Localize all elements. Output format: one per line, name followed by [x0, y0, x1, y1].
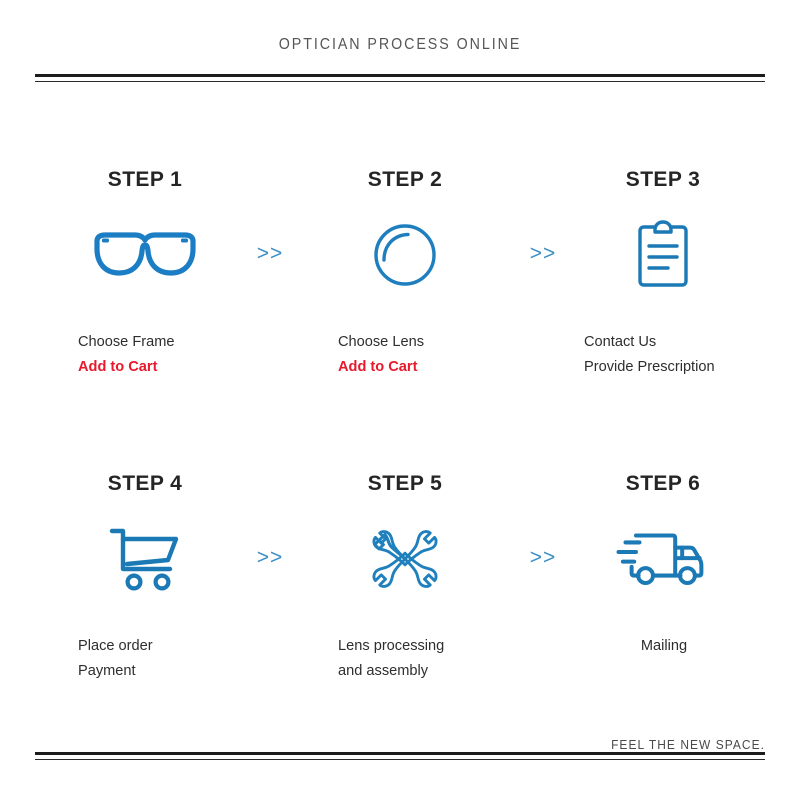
step-caption-3: Contact Us Provide Prescription [584, 330, 784, 380]
divider-thin-line [35, 759, 765, 760]
clipboard-prescription-icon [548, 210, 778, 300]
step-card-6[interactable]: STEP 6 [548, 462, 778, 692]
caption-line: and assembly [338, 659, 528, 684]
divider-thin-line [35, 81, 765, 82]
header-divider [35, 74, 765, 82]
caption-line: Lens processing [338, 634, 528, 659]
step-card-4[interactable]: STEP 4 Place order Payment [30, 462, 260, 692]
step-caption-2: Choose Lens Add to Cart [338, 330, 528, 380]
footer-tagline: FEEL THE NEW SPACE. [38, 738, 765, 752]
step-title-6: STEP 6 [548, 472, 778, 496]
step-title-1: STEP 1 [30, 168, 260, 192]
eyeglasses-icon [30, 210, 260, 300]
step-card-3[interactable]: STEP 3 Contact Us Provide Prescription [548, 158, 778, 388]
step-caption-1: Choose Frame Add to Cart [78, 330, 268, 380]
page-header: OPTICIAN PROCESS ONLINE [0, 0, 800, 100]
lens-circle-icon [290, 210, 520, 300]
step-card-1[interactable]: STEP 1 Choose Frame Add to Cart [30, 158, 260, 388]
page-title: OPTICIAN PROCESS ONLINE [32, 36, 768, 54]
crossed-wrenches-icon [290, 514, 520, 604]
caption-line: Choose Lens [338, 330, 528, 355]
caption-line: Contact Us [584, 330, 784, 355]
shopping-cart-icon [30, 514, 260, 604]
step-card-5[interactable]: STEP 5 [290, 462, 520, 692]
step-caption-5: Lens processing and assembly [338, 634, 528, 684]
steps-row-top: STEP 1 Choose Frame Add to Cart >> STEP … [0, 158, 800, 388]
step-caption-4: Place order Payment [78, 634, 268, 684]
caption-line: Mailing [584, 634, 744, 659]
caption-line: Provide Prescription [584, 355, 784, 380]
delivery-truck-icon [548, 514, 778, 604]
caption-line: Choose Frame [78, 330, 268, 355]
step-title-5: STEP 5 [290, 472, 520, 496]
caption-line: Place order [78, 634, 268, 659]
step-arrow-separator-3: >> [245, 546, 295, 570]
caption-line-accent[interactable]: Add to Cart [78, 355, 268, 380]
steps-row-bottom: STEP 4 Place order Payment >> STEP 5 [0, 462, 800, 692]
step-card-2[interactable]: STEP 2 Choose Lens Add to Cart [290, 158, 520, 388]
step-caption-6: Mailing [584, 634, 784, 659]
step-title-4: STEP 4 [30, 472, 260, 496]
step-title-3: STEP 3 [548, 168, 778, 192]
step-arrow-separator-1: >> [245, 242, 295, 266]
infographic-page: OPTICIAN PROCESS ONLINE STEP 1 Choose Fr… [0, 0, 800, 800]
footer-divider [35, 752, 765, 760]
caption-line-accent[interactable]: Add to Cart [338, 355, 528, 380]
caption-line: Payment [78, 659, 268, 684]
step-title-2: STEP 2 [290, 168, 520, 192]
